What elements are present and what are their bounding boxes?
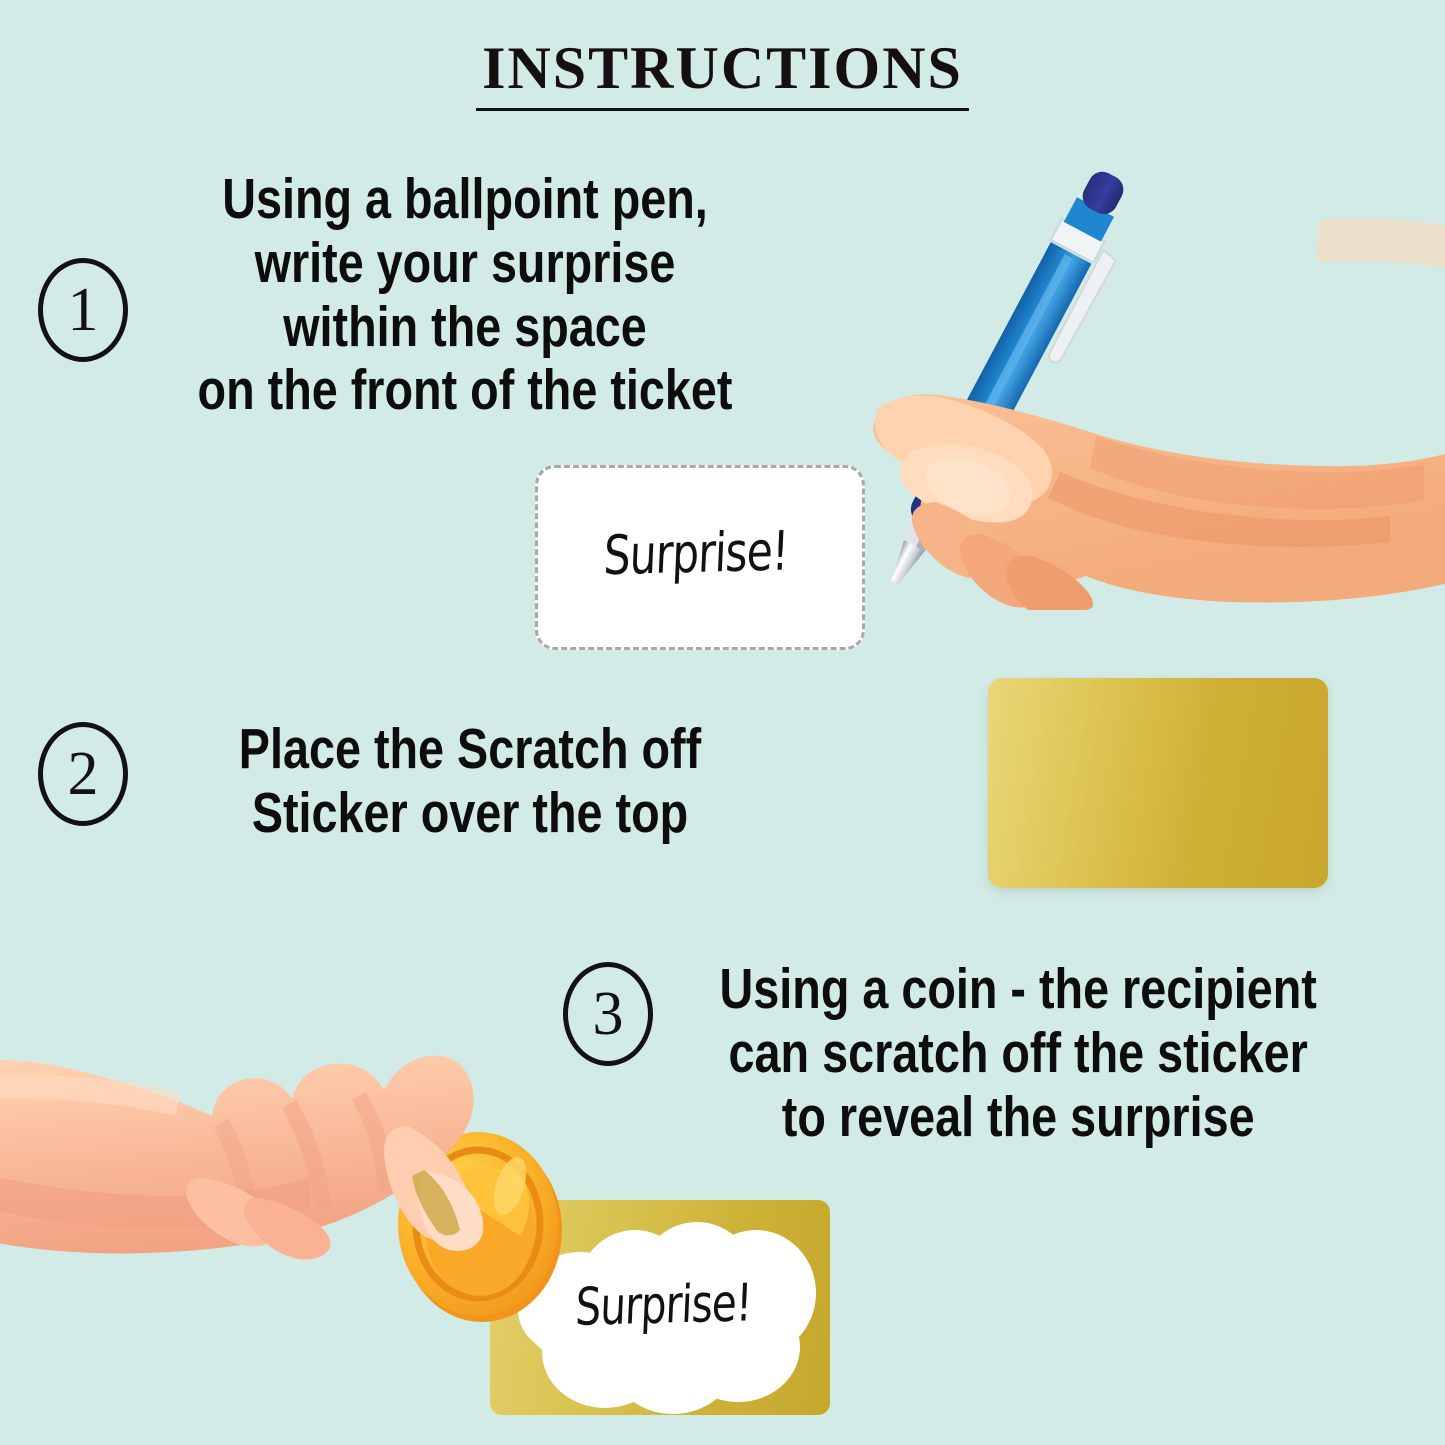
scratch-off-sticker (988, 678, 1328, 888)
revealed-handwritten-text: Surprise! (574, 1273, 752, 1338)
hand-icon (873, 210, 1445, 610)
hand-with-coin-illustration (0, 940, 600, 1345)
page-title-block: Instructions (0, 14, 1445, 111)
step-3-text: Using a coin - the recipient can scratch… (600, 958, 1436, 1149)
hand-with-coin-svg (0, 940, 600, 1340)
page-title: Instructions (476, 14, 969, 111)
step-number-2-label: 2 (68, 743, 99, 805)
hand-with-pen-svg (760, 150, 1445, 610)
instructions-poster: Instructions 1 Using a ballpoint pen, wr… (0, 0, 1445, 1445)
step-2-text: Place the Scratch off Sticker over the t… (109, 718, 831, 846)
hand-with-pen-illustration (760, 150, 1445, 615)
step-1-text: Using a ballpoint pen, write your surpri… (84, 168, 847, 423)
